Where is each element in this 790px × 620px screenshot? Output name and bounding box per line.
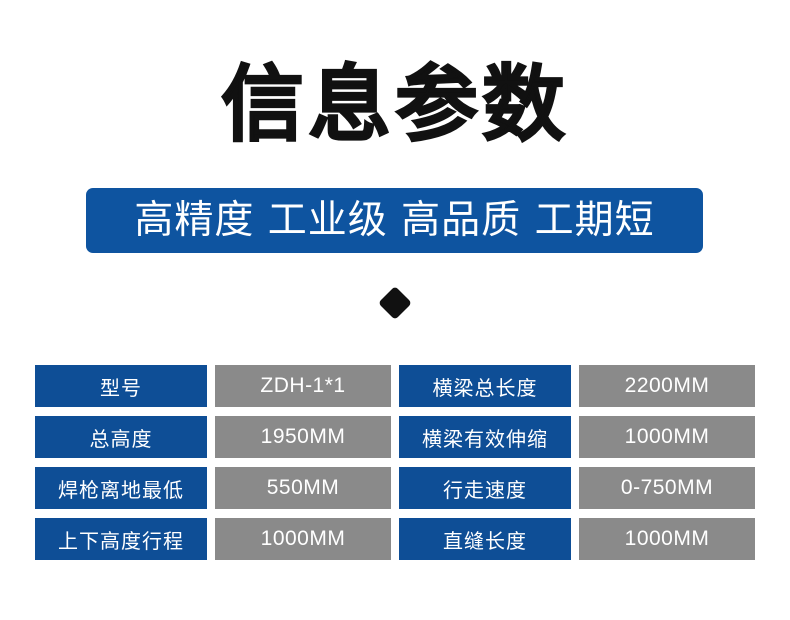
table-row: 上下高度行程 1000MM: [35, 518, 391, 560]
spec-value: 1000MM: [579, 518, 755, 560]
table-row: 横梁有效伸缩 1000MM: [399, 416, 755, 458]
spec-table: 型号 ZDH-1*1 总高度 1950MM 焊枪离地最低 550MM 上下高度行…: [35, 365, 755, 560]
table-row: 行走速度 0-750MM: [399, 467, 755, 509]
table-row: 总高度 1950MM: [35, 416, 391, 458]
page-title: 信息参数: [0, 50, 790, 160]
spec-value: 1000MM: [579, 416, 755, 458]
diamond-separator: [378, 286, 412, 320]
spec-value: 1950MM: [215, 416, 391, 458]
spec-value: 2200MM: [579, 365, 755, 407]
headline-banner: 高精度 工业级 高品质 工期短: [86, 188, 703, 253]
spec-label: 行走速度: [399, 467, 571, 509]
spec-value: 550MM: [215, 467, 391, 509]
table-row: 横梁总长度 2200MM: [399, 365, 755, 407]
table-row: 型号 ZDH-1*1: [35, 365, 391, 407]
table-row: 直缝长度 1000MM: [399, 518, 755, 560]
spec-label: 焊枪离地最低: [35, 467, 207, 509]
headline-banner-text: 高精度 工业级 高品质 工期短: [134, 199, 654, 242]
spec-label: 横梁总长度: [399, 365, 571, 407]
spec-value: 0-750MM: [579, 467, 755, 509]
spec-value: 1000MM: [215, 518, 391, 560]
spec-label: 横梁有效伸缩: [399, 416, 571, 458]
spec-column-left: 型号 ZDH-1*1 总高度 1950MM 焊枪离地最低 550MM 上下高度行…: [35, 365, 391, 560]
spec-label: 型号: [35, 365, 207, 407]
diamond-icon: [378, 286, 412, 320]
spec-label: 上下高度行程: [35, 518, 207, 560]
table-row: 焊枪离地最低 550MM: [35, 467, 391, 509]
spec-value: ZDH-1*1: [215, 365, 391, 407]
spec-column-right: 横梁总长度 2200MM 横梁有效伸缩 1000MM 行走速度 0-750MM …: [399, 365, 755, 560]
spec-label: 总高度: [35, 416, 207, 458]
spec-label: 直缝长度: [399, 518, 571, 560]
